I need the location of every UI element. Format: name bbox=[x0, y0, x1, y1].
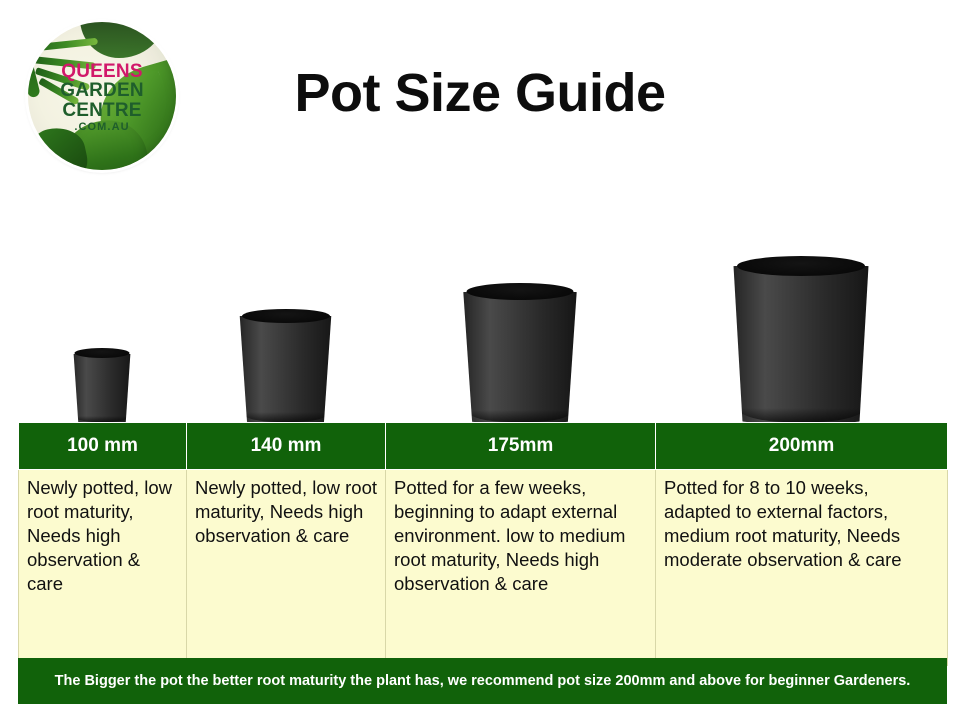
pot-cell-200mm bbox=[655, 200, 947, 422]
logo-line-domain: .COM.AU bbox=[28, 122, 176, 133]
header-cell-140mm: 140 mm bbox=[187, 423, 386, 470]
pot-image-row bbox=[18, 200, 947, 422]
header-cell-100mm: 100 mm bbox=[19, 423, 187, 470]
footer-note: The Bigger the pot the better root matur… bbox=[18, 658, 947, 704]
logo-line-queens: QUEENS bbox=[28, 62, 176, 81]
page-title: Pot Size Guide bbox=[210, 62, 750, 124]
logo-line-garden: GARDEN bbox=[28, 81, 176, 100]
pot-cell-175mm bbox=[385, 200, 655, 422]
cell-description-140mm: Newly potted, low root maturity, Needs h… bbox=[187, 470, 386, 667]
brand-logo: QUEENS GARDEN CENTRE .COM.AU bbox=[28, 22, 176, 170]
logo-wordmark: QUEENS GARDEN CENTRE .COM.AU bbox=[28, 62, 176, 133]
logo-line-centre: CENTRE bbox=[28, 101, 176, 120]
logo-circle: QUEENS GARDEN CENTRE .COM.AU bbox=[28, 22, 176, 170]
header-cell-175mm: 175mm bbox=[386, 423, 656, 470]
table-row: Newly potted, low root maturity, Needs h… bbox=[19, 470, 948, 667]
cell-description-100mm: Newly potted, low root maturity, Needs h… bbox=[19, 470, 187, 667]
pot-size-table: 100 mm 140 mm 175mm 200mm Newly potted, … bbox=[18, 422, 948, 667]
pot-cell-100mm bbox=[18, 200, 186, 422]
cell-description-200mm: Potted for 8 to 10 weeks, adapted to ext… bbox=[656, 470, 948, 667]
header-cell-200mm: 200mm bbox=[656, 423, 948, 470]
pot-cell-140mm bbox=[186, 200, 385, 422]
cell-description-175mm: Potted for a few weeks, beginning to ada… bbox=[386, 470, 656, 667]
table-header-row: 100 mm 140 mm 175mm 200mm bbox=[19, 423, 948, 470]
